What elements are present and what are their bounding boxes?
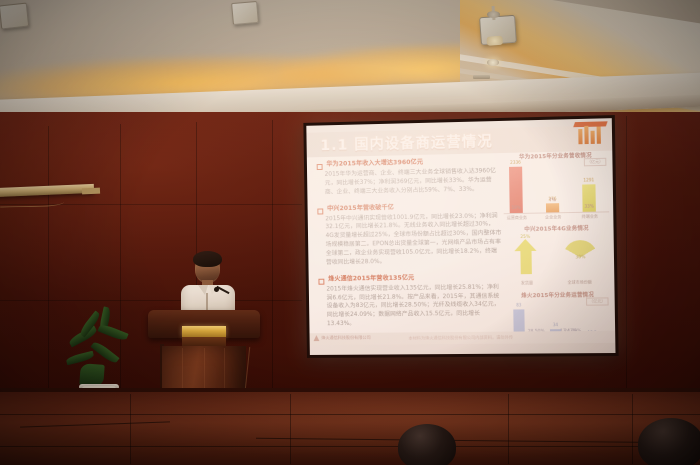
ceiling-speaker-left bbox=[0, 3, 29, 30]
floor-tile-line-1 bbox=[130, 394, 131, 464]
bullet-heading-1: 华为2015年收入大增达3960亿元 bbox=[326, 159, 423, 169]
audience-head-left bbox=[398, 424, 456, 465]
company-logo-icon bbox=[574, 120, 607, 147]
up-arrow-icon bbox=[520, 250, 531, 274]
photo-scene: 1.1 国内设备商运营情况 华为2015年收入大增达3960 bbox=[0, 0, 700, 465]
audience-head-right bbox=[638, 418, 700, 465]
chart-1-bar-1: 2336 59% bbox=[509, 167, 523, 213]
ceiling-projector-icon bbox=[479, 15, 517, 45]
bullet-square-icon-1 bbox=[317, 164, 323, 170]
downlight-1 bbox=[487, 59, 499, 66]
projection-screen: 1.1 国内设备商运营情况 华为2015年收入大增达3960 bbox=[303, 115, 618, 358]
chart-1-cat-3: 终端业务 bbox=[582, 214, 598, 220]
floor-tile-line-2 bbox=[290, 394, 291, 464]
chart-1-value-1: 2336 bbox=[510, 160, 521, 165]
wall-rail-endcap bbox=[82, 188, 100, 195]
footer-logo: 烽火通信科技股份有限公司 bbox=[313, 335, 370, 341]
chart-2-cat-1: 发货量 bbox=[521, 280, 533, 286]
slide-bottom-strip bbox=[310, 343, 616, 355]
downlight-2 bbox=[487, 11, 500, 18]
microphone-icon bbox=[214, 287, 219, 292]
plant-frond-5 bbox=[90, 340, 119, 366]
triangle-logo-icon bbox=[313, 335, 319, 341]
wall-seam-5 bbox=[626, 116, 627, 392]
bullet-body-3: 2015年烽火通信实现营业收入135亿元，同比增长25.81%；净利润6.6亿元… bbox=[326, 283, 503, 329]
ceiling-vent bbox=[473, 75, 490, 79]
bullet-square-icon-3 bbox=[318, 278, 324, 284]
ceiling-speaker-center bbox=[231, 1, 259, 25]
floor-joint-1 bbox=[0, 414, 700, 415]
chart-1-value-3: 1291 bbox=[583, 177, 594, 182]
chart-1-share-1: 59% bbox=[511, 205, 520, 210]
bullet-heading-2: 中兴2015年营收破千亿 bbox=[327, 204, 394, 213]
bullet-block-1: 华为2015年收入大增达3960亿元 2015年华为运营商、企业、终端三大业务全… bbox=[317, 157, 502, 197]
chart-3-value-2: 34 bbox=[553, 322, 558, 327]
chart-1-share-3: 33% bbox=[584, 204, 594, 209]
chart-3-value-1: 83 bbox=[516, 302, 521, 307]
floor-tile-line-3 bbox=[508, 394, 509, 464]
chart-2-axis: 发货量 全球市场份额 bbox=[505, 279, 611, 288]
bullet-block-3: 烽火通信2015年营收135亿元 2015年烽火通信实现营业收入135亿元，同比… bbox=[318, 273, 503, 329]
chart-1-plot: 2336 59% 276 7% 1291 bbox=[503, 163, 609, 214]
podium-nameplate-shadow bbox=[182, 337, 226, 346]
wall-seam-h-2 bbox=[0, 300, 302, 301]
podium-nameplate bbox=[182, 326, 226, 337]
bullet-body-1: 2015年华为运营商、企业、终端三大业务全球销售收入达3960亿元，同比增长37… bbox=[325, 167, 502, 197]
chart-huawei-revenue-split: 华为2015年分业务营收情况 （亿元） 2336 59% 276 bbox=[503, 151, 610, 223]
floor-reflection bbox=[0, 392, 700, 465]
chart-1-bar-3: 1291 33% bbox=[582, 184, 596, 212]
slide-chart-column: 华为2015年分业务营收情况 （亿元） 2336 59% 276 bbox=[503, 151, 612, 355]
footer-notice: 本材料为烽火通信科技股份有限公司内部资料，请勿外传 bbox=[408, 335, 513, 342]
floor-tile-line-4 bbox=[632, 394, 633, 464]
chart-2-plot: 25% 30% bbox=[504, 235, 610, 281]
chart-2-cat-2: 全球市场份额 bbox=[567, 279, 592, 285]
bullet-block-2: 中兴2015年营收破千亿 2015年中兴通讯实现营收1001.9亿元，同比增长2… bbox=[317, 202, 502, 268]
bullet-body-2: 2015年中兴通讯实现营收1001.9亿元，同比增长23.0%；净利润32.1亿… bbox=[325, 212, 502, 268]
wall-seam-1 bbox=[48, 126, 49, 392]
chart-1-axis: 运营商业务 企业业务 终端业务 bbox=[504, 212, 610, 222]
chart-1-bar-2: 276 7% bbox=[546, 203, 559, 212]
slide-text-column: 华为2015年收入大增达3960亿元 2015年华为运营商、企业、终端三大业务全… bbox=[317, 157, 504, 337]
screen-surface: 1.1 国内设备商运营情况 华为2015年收入大增达3960 bbox=[306, 118, 615, 355]
chart-zte-4g-business: 中兴2015年4G业务情况 25% 30% 发货量 全球市场份额 bbox=[504, 223, 610, 288]
chart-1-cat-2: 企业业务 bbox=[545, 214, 561, 220]
plant-frond-4 bbox=[97, 323, 128, 343]
chart-2-title: 中兴2015年4G业务情况 bbox=[504, 223, 610, 233]
presenter-face-shadow bbox=[196, 265, 219, 281]
bullet-heading-3: 烽火通信2015年营收135亿元 bbox=[328, 274, 414, 283]
bullet-square-icon-2 bbox=[317, 208, 323, 214]
chart-1-share-2: 7% bbox=[549, 197, 556, 202]
slide-body: 华为2015年收入大增达3960亿元 2015年华为运营商、企业、终端三大业务全… bbox=[307, 153, 615, 338]
presentation-slide: 1.1 国内设备商运营情况 华为2015年收入大增达3960 bbox=[306, 118, 615, 355]
slide-title: 1.1 国内设备商运营情况 bbox=[320, 130, 493, 155]
floor-joint-2 bbox=[0, 446, 700, 447]
chart-1-cat-1: 运营商业务 bbox=[507, 215, 527, 221]
footer-company: 烽火通信科技股份有限公司 bbox=[321, 335, 370, 341]
chart-2-value-2: 30% bbox=[575, 255, 585, 260]
